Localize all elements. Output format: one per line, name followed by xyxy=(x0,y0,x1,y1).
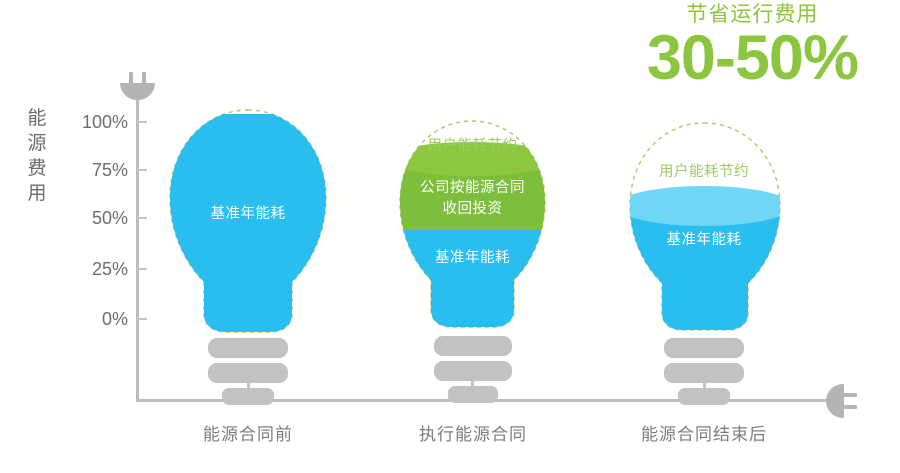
y-tick-mark-100 xyxy=(136,121,147,123)
plug-prong-top xyxy=(841,393,857,397)
plug-icon-right xyxy=(826,384,860,418)
bulb-3[interactable]: 用户能耗节约 基准年能耗 xyxy=(618,120,790,332)
infographic-canvas: 节省运行费用 30-50% 能 源 费 用 100% 75% 50% 25% 0… xyxy=(0,0,900,473)
base-plate-1 xyxy=(434,336,512,356)
bulb-2[interactable]: 用户能耗节约 公司按能源合同 收回投资 基准年能耗 xyxy=(390,118,555,330)
bulb-3-fill-group xyxy=(618,186,790,332)
y-tick-label-0: 0% xyxy=(62,309,128,329)
base-plate-1 xyxy=(208,338,288,358)
bulb-2-segment-label-1: 公司按能源合同 收回投资 xyxy=(390,178,555,220)
plug-prong-bottom xyxy=(841,405,857,409)
y-axis-title-char-4: 用 xyxy=(26,181,48,206)
bulb-2-segment-label-2: 基准年能耗 xyxy=(390,248,555,269)
x-axis-label-1: 能源合同前 xyxy=(178,420,318,445)
x-axis-label-3: 能源合同结束后 xyxy=(618,420,790,445)
y-axis-title-char-2: 源 xyxy=(26,131,48,156)
base-plate-1 xyxy=(664,338,744,358)
headline-value: 30-50% xyxy=(647,27,858,90)
plug-icon-top xyxy=(120,72,155,106)
bulb-2-segment-blue xyxy=(390,228,555,330)
bulb-1-segment-label-1: 基准年能耗 xyxy=(158,204,338,225)
headline-subtitle: 节省运行费用 xyxy=(647,4,858,25)
y-tick-mark-25 xyxy=(136,268,147,270)
y-tick-mark-75 xyxy=(136,169,147,171)
y-tick-label-50: 50% xyxy=(62,208,128,228)
bulb-1-fill-group xyxy=(158,114,338,336)
plug-body xyxy=(826,384,844,418)
bulb-1[interactable]: 基准年能耗 xyxy=(158,106,338,336)
y-tick-mark-0 xyxy=(136,318,147,320)
y-tick-mark-50 xyxy=(136,217,147,219)
y-axis-title-char-3: 费 xyxy=(26,156,48,181)
bulb-3-stem xyxy=(703,380,706,401)
bulb-3-segment-label-1: 基准年能耗 xyxy=(618,230,790,251)
bulb-1-segment-blue xyxy=(158,114,338,336)
y-tick-label-25: 25% xyxy=(62,259,128,279)
y-axis-title: 能 源 费 用 xyxy=(26,106,48,206)
headline-block: 节省运行费用 30-50% xyxy=(647,4,858,90)
bulb-1-stem xyxy=(247,380,250,401)
bulb-2-segment-label-1-line2: 收回投资 xyxy=(443,201,503,217)
bulb-3-saving-label: 用户能耗节约 xyxy=(618,160,790,181)
bulb-2-saving-label: 用户能耗节约 xyxy=(390,134,555,155)
x-axis-label-2: 执行能源合同 xyxy=(398,420,548,445)
bulb-3-shape xyxy=(618,120,790,332)
y-axis-title-char-1: 能 xyxy=(26,106,48,131)
bulb-2-fill-group xyxy=(390,142,555,330)
y-axis-line xyxy=(136,96,139,402)
y-tick-label-100: 100% xyxy=(62,112,128,132)
y-tick-label-75: 75% xyxy=(62,160,128,180)
bulb-2-stem xyxy=(471,378,474,401)
bulb-3-blue-surface xyxy=(618,186,790,226)
plug-body xyxy=(120,83,155,100)
bulb-2-segment-label-1-line1: 公司按能源合同 xyxy=(420,180,525,196)
